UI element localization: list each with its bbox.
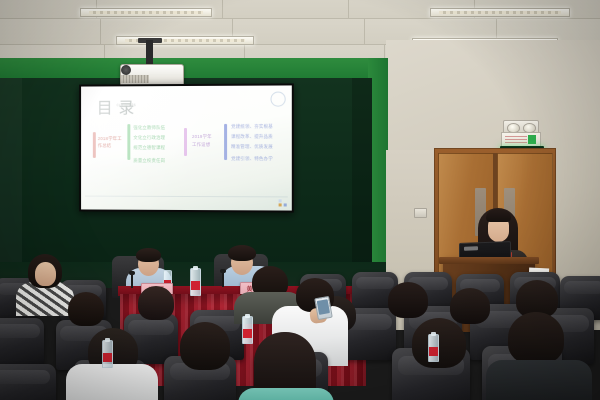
audience-chair[interactable] <box>0 364 56 400</box>
projector-vent <box>121 75 149 83</box>
audience-person <box>238 388 334 400</box>
slide-decor-dot <box>279 199 282 202</box>
audience-hair <box>450 288 490 324</box>
backdrop-seam-left <box>0 78 22 278</box>
slide-col2-line3: 规范立德智课程 <box>133 145 165 151</box>
audience-hair <box>508 312 564 364</box>
audience-hair <box>388 282 428 318</box>
slide-col4-line4: 党建引领、特色办学 <box>231 156 273 162</box>
audience-head <box>35 262 56 286</box>
slide-col3-line2: 工作设想 <box>192 142 210 148</box>
ceiling-light <box>430 8 570 17</box>
chairback-water-bottle <box>102 340 113 368</box>
slide-accent-bar-4 <box>224 124 227 160</box>
projector-lens-icon <box>121 65 131 75</box>
projection-screen: 目 录 contents 2018学年工 作总结 强化立教师队伍 文化立行政治理… <box>79 83 294 212</box>
conference-room-photo: 目 录 contents 2018学年工 作总结 强化立教师队伍 文化立行政治理… <box>0 0 600 400</box>
slide-accent-bar-2 <box>127 124 130 160</box>
ceiling-light <box>80 8 212 17</box>
ceiling-light <box>116 36 254 45</box>
slide-col2-line1: 强化立教师队伍 <box>133 125 165 131</box>
audience-hair <box>68 292 104 326</box>
audience-hair <box>180 322 230 370</box>
slide-bottom-rule <box>85 196 288 198</box>
wall-light-switch[interactable] <box>414 208 427 218</box>
green-wall-band <box>0 58 386 80</box>
slide-col2-line2: 文化立行政治理 <box>133 135 165 141</box>
slide-col1-line1: 2018学年工 <box>98 136 122 142</box>
slide-col2-line4: 质量立校责任岗 <box>133 158 165 164</box>
slide-decor-dot <box>279 203 282 206</box>
slide-col4-line3: 精准管理、优质发展 <box>231 144 273 150</box>
phone-screen <box>317 299 330 315</box>
chairback-water-bottle <box>190 268 201 296</box>
projector-mount-pole <box>146 40 153 66</box>
backdrop-seam-right <box>352 78 372 278</box>
slide-accent-bar-1 <box>93 132 96 158</box>
seated-audience <box>0 252 600 400</box>
slide-decor-circle <box>270 92 285 107</box>
audience-person <box>486 360 592 400</box>
panel-status-led <box>528 135 536 144</box>
audience-chair[interactable] <box>0 318 44 366</box>
audience-hair <box>138 286 174 320</box>
slide-decor-dot <box>284 203 287 206</box>
laptop-logo-icon <box>464 246 478 250</box>
chairback-water-bottle <box>242 316 253 344</box>
slide-col4-line2: 课程改革、提升品质 <box>231 134 273 140</box>
audience-person <box>66 364 158 400</box>
chairback-water-bottle <box>428 334 439 362</box>
slide-heading-en: contents <box>117 102 137 107</box>
slide-accent-bar-3 <box>184 128 187 156</box>
slide-col3-line1: 2019学年 <box>192 134 212 140</box>
speaker-hair-fringe <box>486 210 511 222</box>
audience-hair <box>412 318 466 368</box>
slide-col1-line2: 作总结 <box>98 143 112 149</box>
slide-col4-line1: 党建统领、夯实根基 <box>231 124 273 130</box>
